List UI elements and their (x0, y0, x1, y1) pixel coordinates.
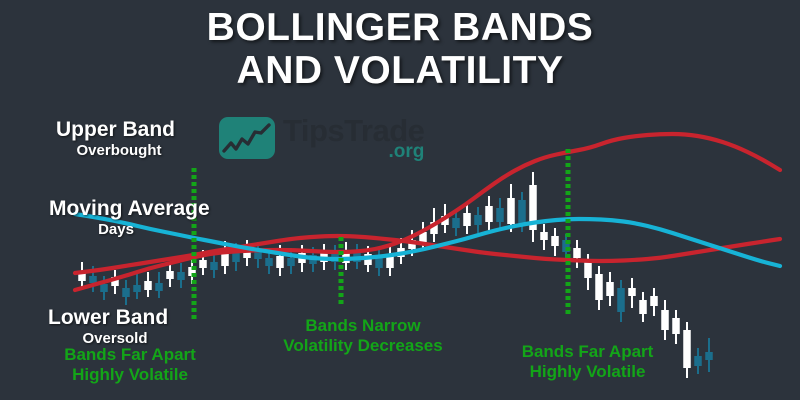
logo-wordmark: TipsTrade .org (283, 115, 424, 161)
bollinger-bands-chart (0, 0, 800, 400)
poster-canvas: BOLLINGER BANDS AND VOLATILITY TipsTrade… (0, 0, 800, 400)
candlestick-series (78, 172, 713, 378)
brand-logo: TipsTrade .org (219, 115, 424, 161)
line-chart-icon (219, 117, 275, 159)
